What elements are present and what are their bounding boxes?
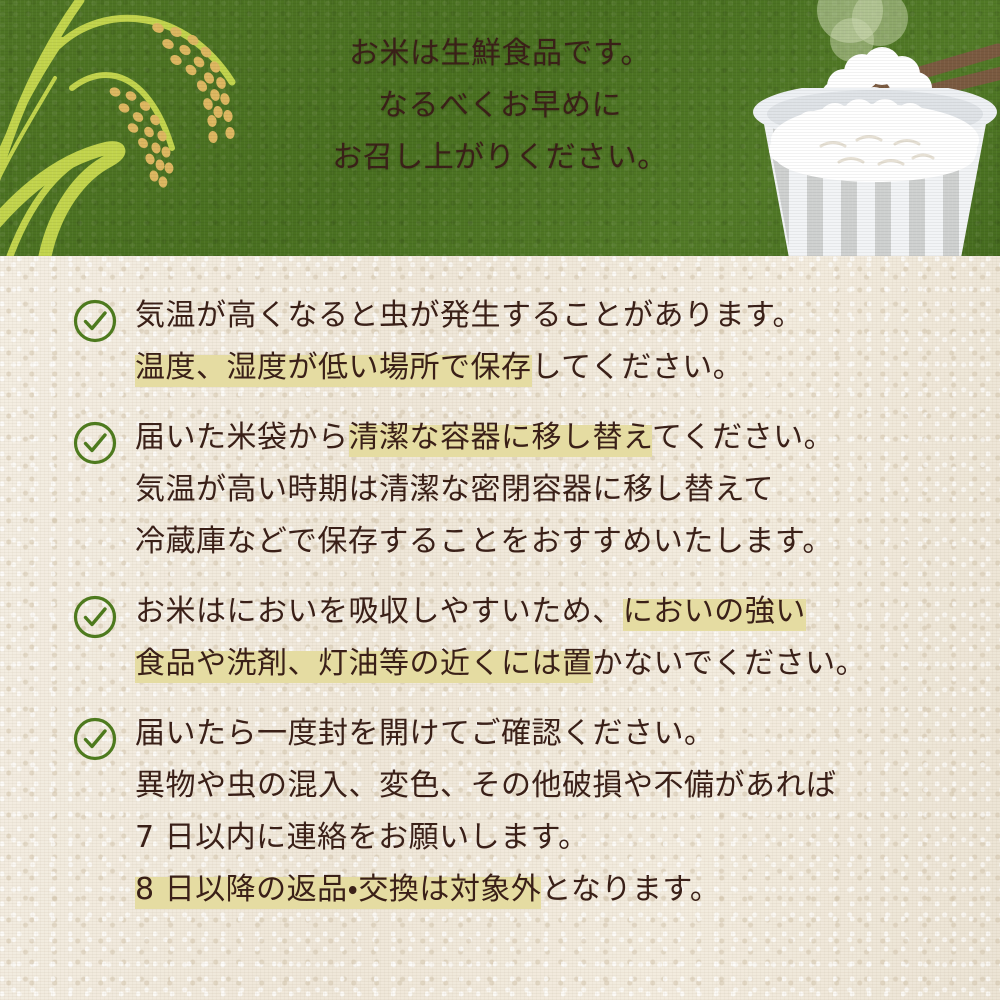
check-circle-icon — [72, 594, 118, 640]
plain-text: お米はにおいを吸収しやすいため、 — [135, 594, 623, 629]
notice-list: 気温が高くなると虫が発生することがあります。温度、湿度が低い場所で保存してくださ… — [0, 256, 1000, 934]
highlighted-text: 8 日以降の返品・交換は対象外 — [135, 872, 541, 909]
highlighted-text: 食品や洗剤、灯油等の近くには置 — [135, 646, 593, 683]
highlighted-text: 温度、湿度が低い場所で保存 — [135, 350, 532, 387]
title-line-1: お米は生鮮食品です。 — [200, 28, 800, 80]
plain-text: となります。 — [541, 872, 720, 907]
list-item-line: 届いたら一度封を開けてご確認ください。 — [135, 708, 1000, 760]
highlighted-text: においの強い — [623, 594, 806, 631]
plain-text: 気温が高くなると虫が発生することがあります。 — [135, 298, 803, 333]
title-line-3: お召し上がりください。 — [200, 132, 800, 184]
list-item-line: 気温が高くなると虫が発生することがあります。 — [135, 290, 1000, 342]
plain-text: てください。 — [652, 420, 834, 455]
check-circle-icon — [72, 420, 118, 466]
list-item: 届いたら一度封を開けてご確認ください。異物や虫の混入、変色、その他破損や不備があ… — [0, 708, 1000, 916]
poster-root: お米は生鮮食品です。 なるべくお早めに お召し上がりください。 気温が高くなると… — [0, 0, 1000, 1000]
list-item: 気温が高くなると虫が発生することがあります。温度、湿度が低い場所で保存してくださ… — [0, 256, 1000, 394]
plain-text: 7 日以内に連絡をお願いします。 — [135, 820, 589, 855]
list-item: お米はにおいを吸収しやすいため、においの強い食品や洗剤、灯油等の近くには置かない… — [0, 586, 1000, 690]
plain-text: 届いたら一度封を開けてご確認ください。 — [135, 716, 715, 751]
plain-text: 異物や虫の混入、変色、その他破損や不備があれば — [135, 768, 837, 803]
list-item-line: 異物や虫の混入、変色、その他破損や不備があれば — [135, 760, 1000, 812]
highlighted-text: 清潔な容器に移し替え — [349, 420, 653, 457]
page-title: お米は生鮮食品です。 なるべくお早めに お召し上がりください。 — [200, 28, 800, 184]
check-circle-icon — [72, 716, 118, 762]
list-item-line: 届いた米袋から清潔な容器に移し替えてください。 — [135, 412, 1000, 464]
plain-text: 冷蔵庫などで保存することをおすすめいたします。 — [135, 524, 833, 559]
list-item-line: 7 日以内に連絡をお願いします。 — [135, 812, 1000, 864]
plain-text: 届いた米袋から — [135, 420, 349, 455]
plain-text: かないでください。 — [593, 646, 867, 681]
list-item: 届いた米袋から清潔な容器に移し替えてください。気温が高い時期は清潔な密閉容器に移… — [0, 412, 1000, 568]
list-item-line: 温度、湿度が低い場所で保存してください。 — [135, 342, 1000, 394]
header-banner: お米は生鮮食品です。 なるべくお早めに お召し上がりください。 — [0, 0, 1000, 256]
list-item-line: 食品や洗剤、灯油等の近くには置かないでください。 — [135, 638, 1000, 690]
list-item-line: 8 日以降の返品・交換は対象外となります。 — [135, 864, 1000, 916]
list-item-line: お米はにおいを吸収しやすいため、においの強い — [135, 586, 1000, 638]
list-item-line: 冷蔵庫などで保存することをおすすめいたします。 — [135, 516, 1000, 568]
title-line-2: なるべくお早めに — [200, 80, 800, 132]
check-circle-icon — [72, 298, 118, 344]
list-item-line: 気温が高い時期は清潔な密閉容器に移し替えて — [135, 464, 1000, 516]
plain-text: してください。 — [532, 350, 744, 385]
plain-text: 気温が高い時期は清潔な密閉容器に移し替えて — [135, 472, 774, 507]
